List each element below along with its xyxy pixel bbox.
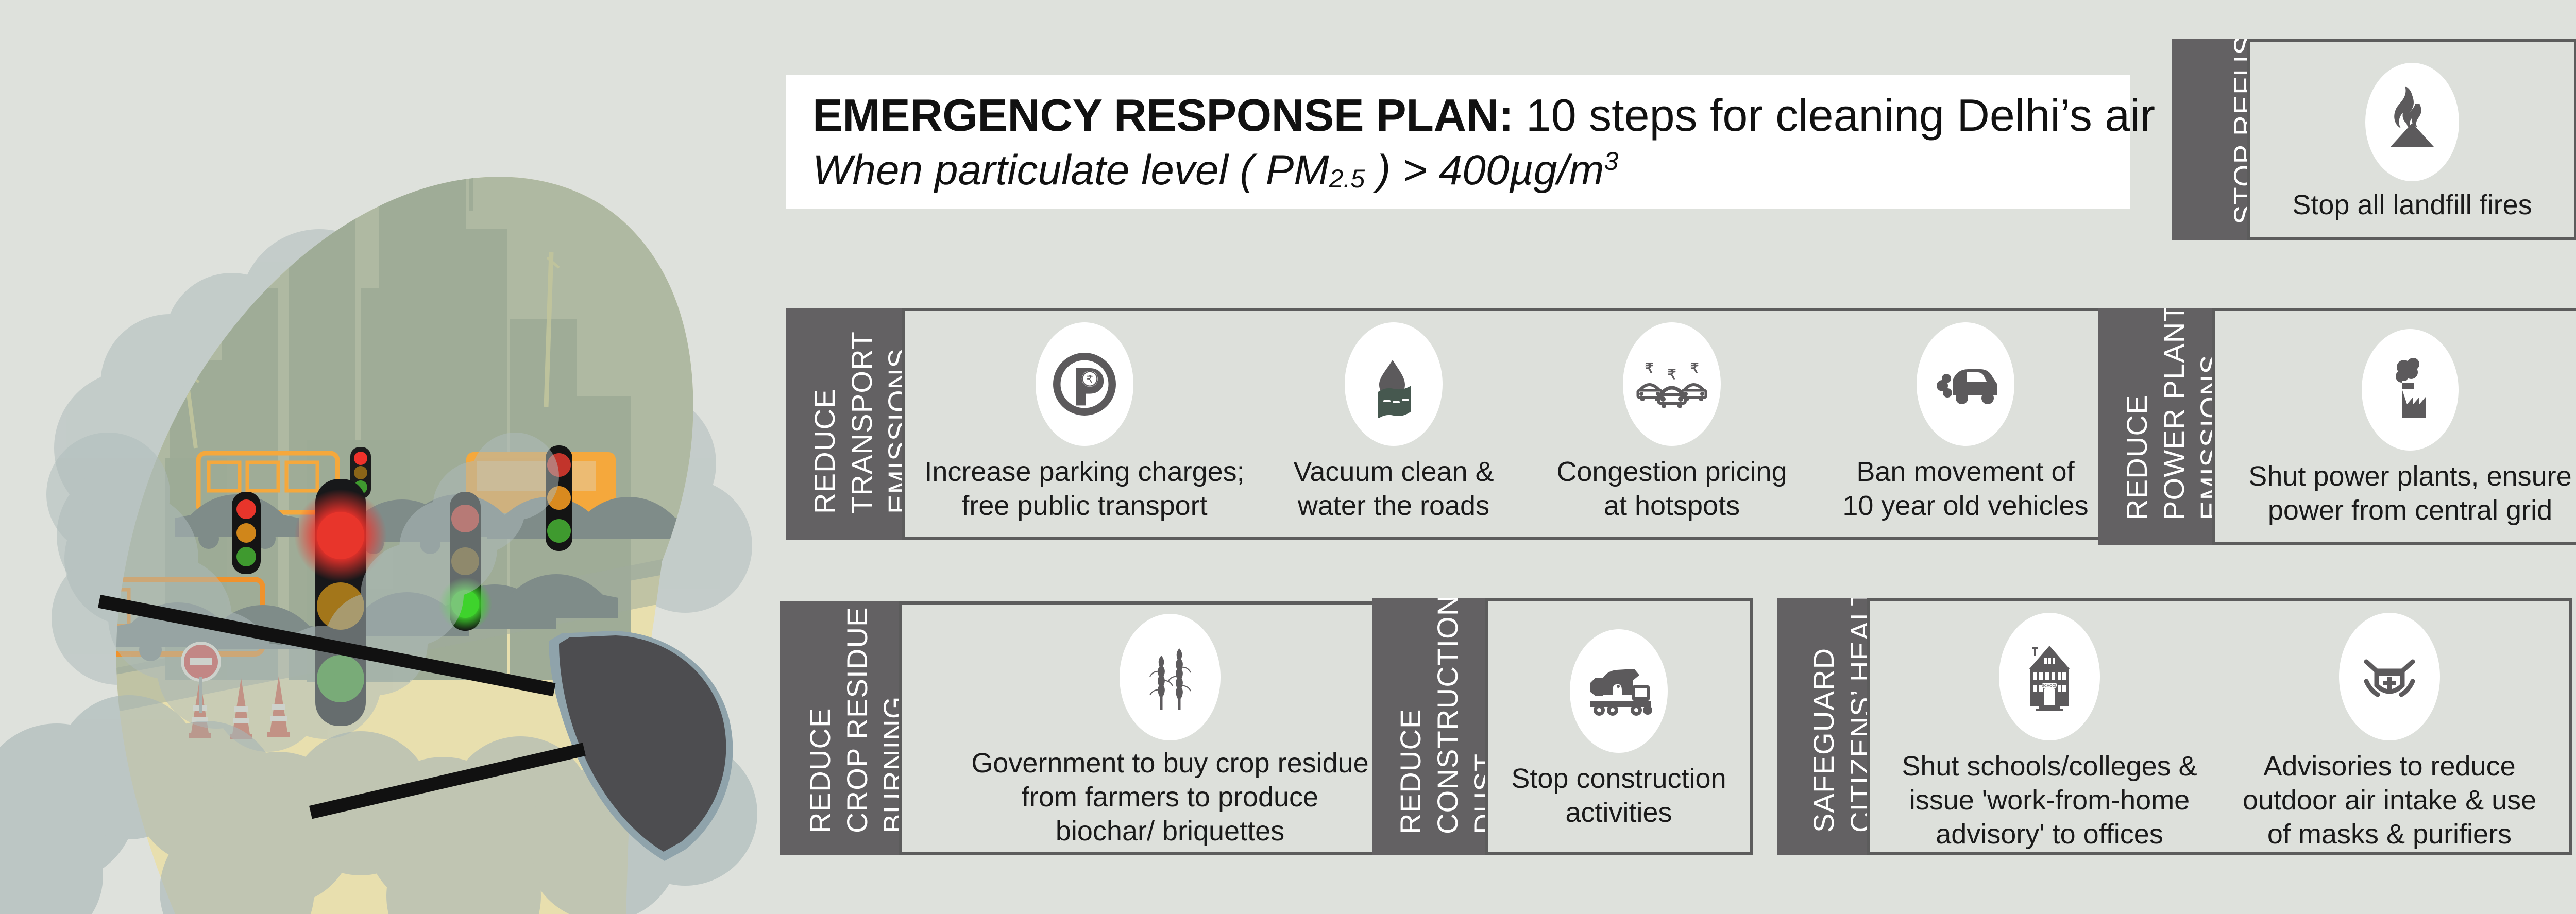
cement-mixer-truck-icon xyxy=(1570,629,1668,753)
panel-reduce-transport-emissions: REDUCE TRANSPORT EMISSIONS ₹ xyxy=(786,308,2058,540)
caption-line: water the roads xyxy=(1255,489,1533,523)
measure-item[interactable]: Stop all landfill fires xyxy=(2258,63,2567,222)
water-droplet-road-icon xyxy=(1345,322,1443,446)
subtitle-mid: ) > 400µg/m xyxy=(1365,147,1604,194)
measure-caption: Advisories to reduce outdoor air intake … xyxy=(2219,750,2560,852)
panel-label-line: EMISSIONS xyxy=(880,331,902,514)
measure-caption: Shut schools/colleges & issue 'work-from… xyxy=(1879,750,2219,852)
caption-line: Increase parking charges; xyxy=(914,455,1255,489)
measure-item[interactable]: ₹ ₹ ₹ xyxy=(1533,322,1811,523)
subtitle-pre: When particulate level ( PM xyxy=(812,147,1329,194)
school-building-icon: SCHOOL xyxy=(1999,613,2100,740)
landfill-fire-icon xyxy=(2365,63,2459,181)
measure-item[interactable]: Ban movement of 10 year old vehicles xyxy=(1811,322,2120,523)
caption-line: outdoor air intake & use xyxy=(2219,784,2560,818)
measure-item[interactable]: Stop construction activities xyxy=(1495,629,1742,830)
panel-label-line: POWER PLANT xyxy=(2156,308,2193,520)
panel-label-stop-refuse-burning: STOP REFUSE BURNING xyxy=(2172,39,2247,240)
measure-caption: Vacuum clean & water the roads xyxy=(1255,455,1533,523)
caption-line: 10 year old vehicles xyxy=(1811,489,2120,523)
caption-line: Shut schools/colleges & xyxy=(1879,750,2219,784)
measure-item[interactable]: ₹ Increase parking charges; free public … xyxy=(914,322,1255,523)
panel-label-line: SAFEGUARD xyxy=(1805,598,1842,833)
page-title-bold: EMERGENCY RESPONSE PLAN: xyxy=(812,90,1513,141)
measure-caption: Stop construction activities xyxy=(1495,762,1742,830)
panel-safeguard-citizens-health: SAFEGUARD CITIZENS’ HEALTH xyxy=(1777,598,2539,855)
panel-label-reduce-power-plant-emissions: REDUCE POWER PLANT EMISSIONS xyxy=(2098,308,2212,545)
panel-label-line: REDUCE xyxy=(2119,308,2156,520)
measure-item[interactable]: Government to buy crop residue from farm… xyxy=(910,614,1430,849)
smokestack-factory-icon xyxy=(2362,329,2459,451)
wheat-stalks-icon xyxy=(1120,614,1221,740)
page-title: EMERGENCY RESPONSE PLAN: 10 steps for cl… xyxy=(812,90,2130,141)
pollution-head-illustration xyxy=(0,0,773,914)
caption-line: at hotspots xyxy=(1533,489,1811,523)
caption-line: Shut power plants, ensure xyxy=(2225,460,2576,494)
cars-rupee-icon: ₹ ₹ ₹ xyxy=(1623,322,1721,446)
svg-text:₹: ₹ xyxy=(1645,360,1654,376)
caption-line: Government to buy crop residue xyxy=(910,747,1430,781)
page-subtitle: When particulate level ( PM2.5 ) > 400µg… xyxy=(812,144,2130,197)
caption-line: free public transport xyxy=(914,489,1255,523)
panel-label-line: REDUCE xyxy=(802,607,839,833)
measure-caption: Stop all landfill fires xyxy=(2258,188,2567,222)
panel-reduce-construction-dust: REDUCE CONSTRUCTION DUST xyxy=(1372,598,1740,855)
panel-label-line: DUST xyxy=(1466,598,1485,834)
panel-label-line: STOP REFUSE xyxy=(2226,39,2247,225)
face-mask-icon xyxy=(2339,613,2440,740)
svg-text:₹: ₹ xyxy=(1690,360,1699,376)
panel-label-reduce-crop-residue-burning: REDUCE CROP RESIDUE BURNING xyxy=(780,601,899,855)
caption-line: from farmers to produce xyxy=(910,781,1430,815)
panel-body-reduce-transport-emissions: ₹ Increase parking charges; free public … xyxy=(902,308,2132,540)
smog-cloud-top xyxy=(411,7,560,127)
svg-text:₹: ₹ xyxy=(1087,373,1093,385)
caption-line: biochar/ briquettes xyxy=(910,815,1430,849)
panel-reduce-power-plant-emissions: REDUCE POWER PLANT EMISSIONS xyxy=(2098,308,2539,545)
caption-line: advisory' to offices xyxy=(1879,818,2219,852)
svg-text:SCHOOL: SCHOOL xyxy=(2042,684,2057,688)
panel-label-line: CONSTRUCTION xyxy=(1429,598,1466,834)
caption-line: Advisories to reduce xyxy=(2219,750,2560,784)
panel-label-line: BURNING xyxy=(875,607,899,833)
traffic-light-medium-1 xyxy=(232,492,261,574)
page-title-light: 10 steps for cleaning Delhi’s air xyxy=(1513,90,2155,141)
measure-item[interactable]: Shut power plants, ensure power from cen… xyxy=(2225,329,2576,528)
panel-body-stop-refuse-burning: Stop all landfill fires xyxy=(2247,39,2576,240)
svg-text:₹: ₹ xyxy=(1668,367,1676,382)
header-title-box: EMERGENCY RESPONSE PLAN: 10 steps for cl… xyxy=(786,75,2130,209)
panel-label-reduce-construction-dust: REDUCE CONSTRUCTION DUST xyxy=(1372,598,1485,855)
caption-line: power from central grid xyxy=(2225,494,2576,528)
panel-label-line: REDUCE xyxy=(806,331,843,514)
measure-caption: Increase parking charges; free public tr… xyxy=(914,455,1255,523)
caption-line: Congestion pricing xyxy=(1533,455,1811,489)
parking-rupee-icon: ₹ xyxy=(1036,322,1133,446)
panel-stop-refuse-burning: STOP REFUSE BURNING Stop all landfill xyxy=(2172,39,2538,240)
panel-label-line: EMISSIONS xyxy=(2192,308,2212,520)
panel-label-reduce-transport-emissions: REDUCE TRANSPORT EMISSIONS xyxy=(786,308,902,540)
caption-line: issue 'work-from-home xyxy=(1879,784,2219,818)
subtitle-superscript: 3 xyxy=(1604,147,1618,176)
caption-line: Vacuum clean & xyxy=(1255,455,1533,489)
car-exhaust-icon xyxy=(1917,322,2014,446)
caption-line: Ban movement of xyxy=(1811,455,2120,489)
panel-reduce-crop-residue-burning: REDUCE CROP RESIDUE BURNING xyxy=(780,601,1335,855)
panel-body-safeguard-citizens-health: SCHOOL Shut schools/colleges & issue 'wo… xyxy=(1867,598,2572,855)
subtitle-subscript: 2.5 xyxy=(1329,164,1365,193)
caption-line: Stop construction xyxy=(1495,762,1742,796)
panel-body-reduce-construction-dust: Stop construction activities xyxy=(1485,598,1753,855)
panel-label-line: REDUCE xyxy=(1392,598,1429,834)
measure-item[interactable]: Vacuum clean & water the roads xyxy=(1255,322,1533,523)
measure-caption: Shut power plants, ensure power from cen… xyxy=(2225,460,2576,528)
measure-item[interactable]: SCHOOL Shut schools/colleges & issue 'wo… xyxy=(1879,613,2219,852)
measure-item[interactable]: Advisories to reduce outdoor air intake … xyxy=(2219,613,2560,852)
caption-line: activities xyxy=(1495,796,1742,830)
panel-label-line: CITIZENS’ HEALTH xyxy=(1842,598,1867,833)
infographic-canvas: EMERGENCY RESPONSE PLAN: 10 steps for cl… xyxy=(0,0,2576,914)
measure-caption: Congestion pricing at hotspots xyxy=(1533,455,1811,523)
panel-body-reduce-crop-residue-burning: Government to buy crop residue from farm… xyxy=(899,601,1442,855)
panel-label-line: CROP RESIDUE xyxy=(839,607,876,833)
measure-caption: Ban movement of 10 year old vehicles xyxy=(1811,455,2120,523)
panel-label-safeguard-citizens-health: SAFEGUARD CITIZENS’ HEALTH xyxy=(1777,598,1867,855)
panel-body-reduce-power-plant-emissions: Shut power plants, ensure power from cen… xyxy=(2212,308,2576,545)
caption-line: of masks & purifiers xyxy=(2219,818,2560,852)
panel-label-line: TRANSPORT xyxy=(843,331,880,514)
measure-caption: Government to buy crop residue from farm… xyxy=(910,747,1430,849)
